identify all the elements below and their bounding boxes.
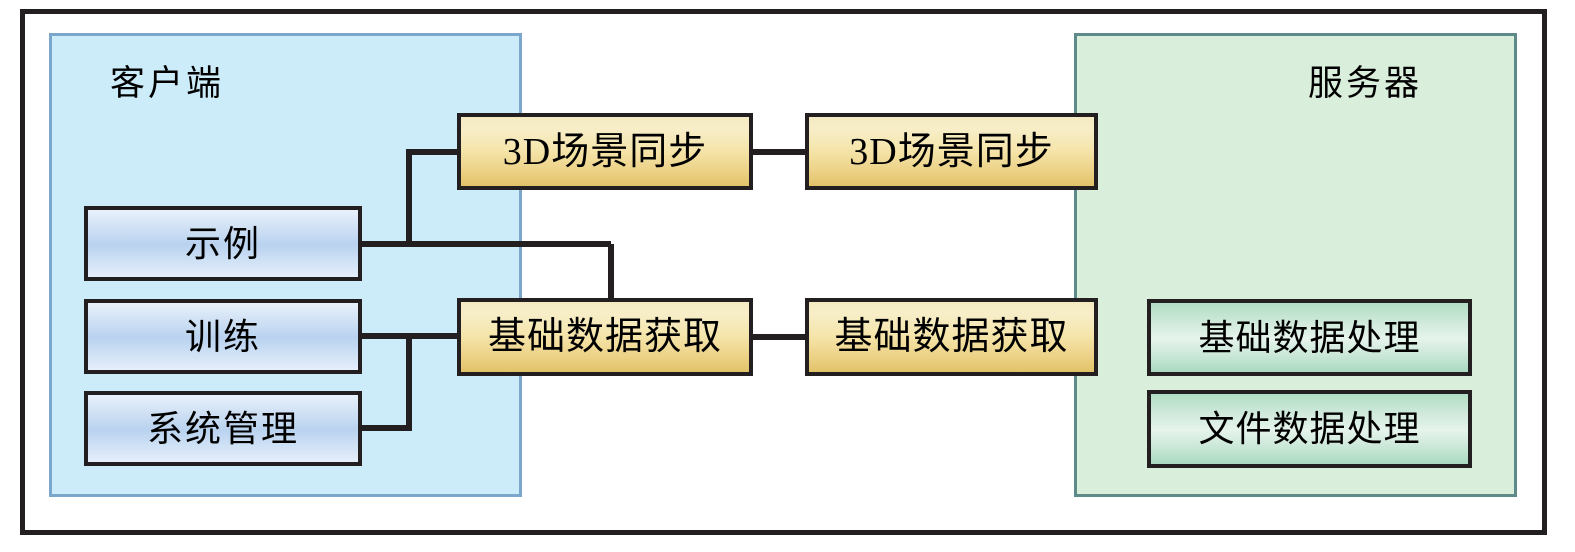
- node-file-data-process[interactable]: 文件数据处理: [1147, 390, 1472, 468]
- node-system-management-label: 系统管理: [147, 411, 299, 447]
- node-example[interactable]: 示例: [84, 206, 362, 281]
- node-system-management[interactable]: 系统管理: [84, 391, 362, 466]
- node-scene-sync-client-label: 3D场景同步: [503, 133, 707, 171]
- node-base-data-fetch-server[interactable]: 基础数据获取: [805, 298, 1098, 376]
- zone-label-server: 服务器: [1308, 66, 1422, 101]
- node-base-data-fetch-client[interactable]: 基础数据获取: [457, 298, 753, 376]
- zone-label-client: 客户端: [110, 66, 224, 101]
- node-base-data-process-label: 基础数据处理: [1198, 320, 1420, 356]
- node-base-data-fetch-server-label: 基础数据获取: [834, 318, 1068, 356]
- node-training[interactable]: 训练: [84, 299, 362, 374]
- node-training-label: 训练: [185, 319, 261, 355]
- node-scene-sync-server[interactable]: 3D场景同步: [805, 113, 1098, 190]
- node-base-data-fetch-client-label: 基础数据获取: [488, 318, 722, 356]
- node-file-data-process-label: 文件数据处理: [1198, 411, 1420, 447]
- node-base-data-process[interactable]: 基础数据处理: [1147, 299, 1472, 376]
- node-scene-sync-server-label: 3D场景同步: [849, 133, 1053, 171]
- node-scene-sync-client[interactable]: 3D场景同步: [457, 113, 753, 190]
- node-example-label: 示例: [185, 226, 261, 262]
- diagram-canvas: 客户端 服务器 示例 训练 系统管理 3D场景同步 3D场景同步 基础数据获取 …: [0, 0, 1575, 552]
